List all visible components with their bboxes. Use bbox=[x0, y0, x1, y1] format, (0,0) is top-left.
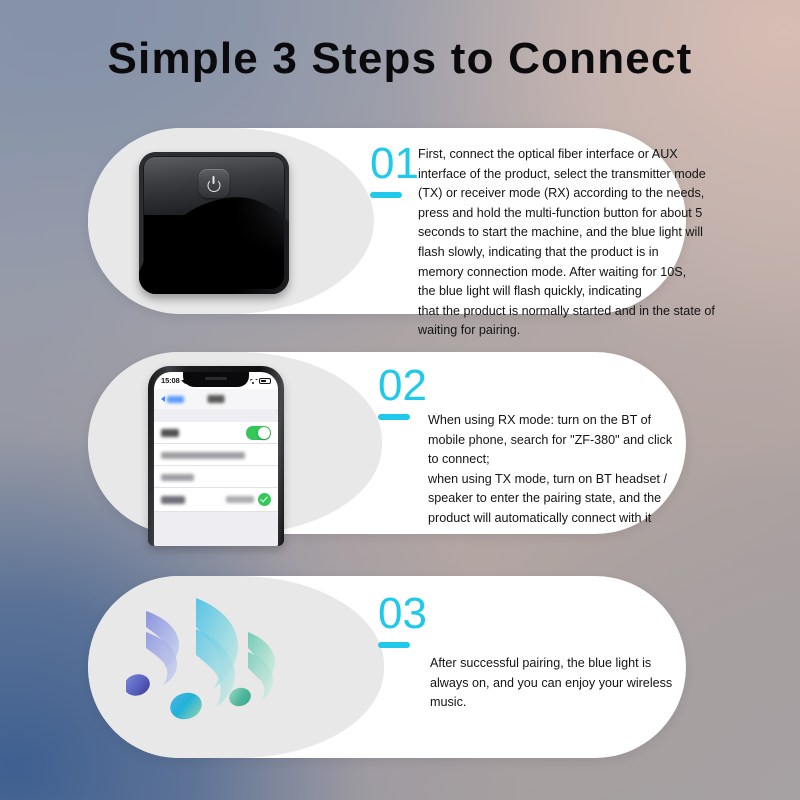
phone-settings-list bbox=[154, 409, 278, 546]
product-power-button[interactable] bbox=[199, 169, 230, 198]
product-face-lower bbox=[144, 215, 284, 289]
page-title: Simple 3 Steps to Connect bbox=[108, 37, 693, 81]
step-1-accent-dash bbox=[370, 192, 402, 198]
discoverable-hint-row bbox=[154, 444, 278, 466]
phone-image: 15:08 bbox=[148, 366, 284, 546]
bluetooth-toggle-switch[interactable] bbox=[246, 426, 271, 440]
step-3-number: 03 bbox=[378, 592, 448, 636]
step-2-media-area: 15:08 bbox=[88, 352, 382, 534]
music-note-center bbox=[167, 598, 238, 723]
phone-back-button[interactable] bbox=[161, 396, 184, 403]
title-bar: Simple 3 Steps to Connect bbox=[0, 0, 800, 118]
device-status-group bbox=[226, 493, 271, 506]
phone-screen-title-redacted bbox=[208, 395, 225, 403]
step-card-2: 15:08 bbox=[88, 352, 686, 534]
phone-nav-bar bbox=[154, 389, 278, 409]
device-status-redacted bbox=[226, 496, 254, 503]
chevron-left-icon bbox=[161, 396, 165, 402]
phone-frame: 15:08 bbox=[148, 366, 284, 546]
step-2-number: 02 bbox=[378, 364, 448, 408]
step-1-media-area bbox=[88, 128, 374, 314]
discoverable-hint-redacted bbox=[161, 446, 245, 464]
power-icon bbox=[207, 176, 222, 191]
step-3-media-area bbox=[88, 576, 384, 758]
step-1-description: First, connect the optical fiber interfa… bbox=[418, 145, 728, 341]
bluetooth-label-redacted bbox=[161, 424, 179, 442]
step-2-description: When using RX mode: turn on the BT of mo… bbox=[428, 411, 728, 529]
my-devices-label-redacted bbox=[161, 468, 194, 486]
back-label-redacted bbox=[167, 396, 184, 403]
step-card-3: 03 After successful pairing, the blue li… bbox=[88, 576, 686, 758]
step-3-description: After successful pairing, the blue light… bbox=[430, 654, 730, 713]
device-row-zf380[interactable] bbox=[154, 488, 278, 512]
product-image bbox=[139, 152, 289, 294]
notch-speaker bbox=[205, 377, 227, 380]
list-top-spacer bbox=[154, 409, 278, 422]
phone-notch bbox=[183, 372, 249, 387]
music-note-left bbox=[126, 611, 179, 699]
my-devices-header-row bbox=[154, 466, 278, 488]
phone-screen: 15:08 bbox=[154, 372, 278, 546]
infographic-page: Simple 3 Steps to Connect 01 First, conn… bbox=[0, 0, 800, 800]
status-bar-time: 15:08 bbox=[161, 376, 180, 385]
step-3-accent-dash bbox=[378, 642, 410, 648]
battery-icon bbox=[259, 378, 271, 385]
step-card-1: 01 First, connect the optical fiber inte… bbox=[88, 128, 686, 314]
bluetooth-toggle-row[interactable] bbox=[154, 422, 278, 444]
music-notes-illustration bbox=[126, 584, 316, 750]
wifi-icon bbox=[249, 377, 257, 384]
device-name-redacted bbox=[161, 491, 185, 509]
step-3-number-block: 03 bbox=[378, 592, 448, 648]
step-2-accent-dash bbox=[378, 414, 410, 420]
check-circle-icon bbox=[258, 493, 271, 506]
